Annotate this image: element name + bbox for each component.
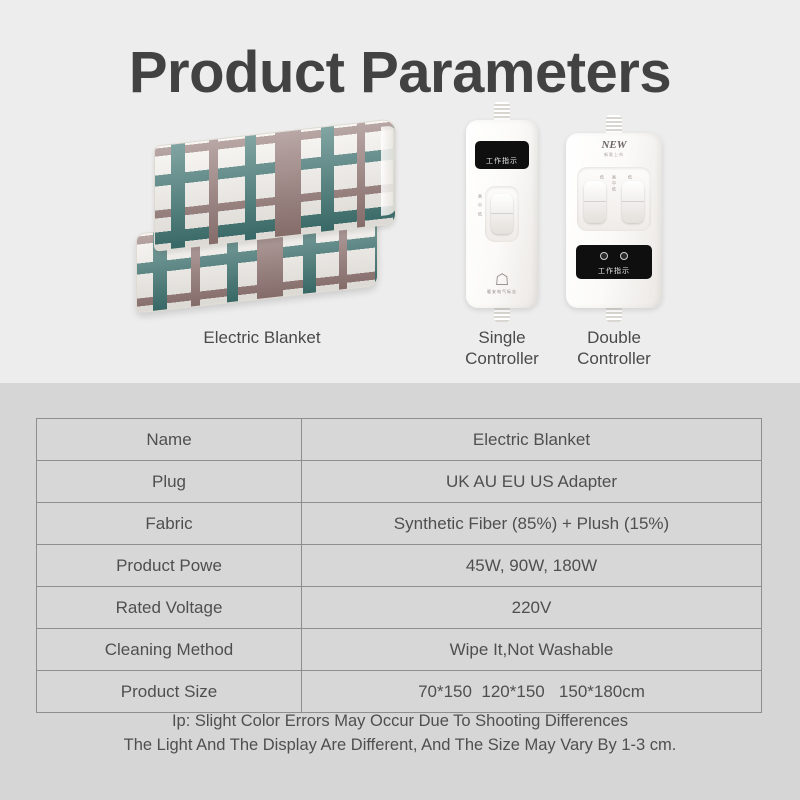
controller-body: NEW 新款上市 低 高中低 低: [566, 133, 662, 308]
disclaimer-line-1: Ip: Slight Color Errors May Occur Due To…: [0, 710, 800, 734]
brand-label: NEW: [566, 139, 662, 151]
spec-value: Synthetic Fiber (85%) + Plush (15%): [302, 503, 762, 545]
controller-body: 工作指示 高 中 低 ☖ 暖安电气标志: [466, 120, 538, 308]
spec-value: Electric Blanket: [302, 419, 762, 461]
spec-key: Plug: [37, 461, 302, 503]
cable-strain-relief-icon: [494, 306, 510, 322]
table-row: PlugUK AU EU US Adapter: [37, 461, 762, 503]
disclaimer-line-2: The Light And The Display Are Different,…: [0, 734, 800, 758]
spec-key: Cleaning Method: [37, 629, 302, 671]
table-row: Rated Voltage220V: [37, 587, 762, 629]
indicator-dot: [600, 252, 608, 260]
spec-key: Name: [37, 419, 302, 461]
spec-value: 70*150 120*150 150*180cm: [302, 671, 762, 713]
switch-scale-label-middle: 高中低: [611, 175, 617, 193]
product-parameters-infographic: Product Parameters 工作指示 高 中 低: [0, 0, 800, 800]
caption-line-2: Controller: [450, 349, 554, 370]
switch-recess: [485, 186, 519, 242]
spec-value: 45W, 90W, 180W: [302, 545, 762, 587]
caption-line-2: Controller: [558, 349, 670, 370]
caption-line-1: Single: [450, 328, 554, 349]
table-row: Product Powe45W, 90W, 180W: [37, 545, 762, 587]
switch-scale-labels: 高 中 低: [477, 194, 483, 218]
electric-blanket-image: [128, 132, 396, 307]
switch-recess: 低 高中低 低: [577, 167, 651, 231]
caption-line-1: Double: [558, 328, 670, 349]
hero-section: Product Parameters 工作指示 高 中 低: [0, 0, 800, 383]
display-panel-label: 工作指示: [598, 266, 630, 276]
spec-key: Rated Voltage: [37, 587, 302, 629]
spec-value: Wipe It,Not Washable: [302, 629, 762, 671]
spec-key: Product Powe: [37, 545, 302, 587]
indicator-lights: [576, 252, 652, 260]
spec-value: UK AU EU US Adapter: [302, 461, 762, 503]
fold-edge-highlight: [381, 125, 396, 216]
specifications-table: NameElectric BlanketPlugUK AU EU US Adap…: [36, 418, 762, 713]
controller-display-panel: 工作指示: [576, 245, 652, 279]
caption-double-controller: Double Controller: [558, 328, 670, 369]
temperature-slider[interactable]: [491, 194, 513, 234]
logo-caption: 暖安电气标志: [466, 290, 538, 294]
table-row: FabricSynthetic Fiber (85%) + Plush (15%…: [37, 503, 762, 545]
single-controller-image: 工作指示 高 中 低 ☖ 暖安电气标志: [466, 120, 538, 308]
table-row: NameElectric Blanket: [37, 419, 762, 461]
temperature-slider-right[interactable]: [622, 181, 644, 223]
table-row: Cleaning MethodWipe It,Not Washable: [37, 629, 762, 671]
controller-display-panel: 工作指示: [475, 141, 529, 169]
indicator-dot: [620, 252, 628, 260]
house-logo-icon: ☖ 暖安电气标志: [466, 273, 538, 294]
specifications-section: NameElectric BlanketPlugUK AU EU US Adap…: [0, 383, 800, 800]
double-controller-image: NEW 新款上市 低 高中低 低: [566, 133, 662, 308]
temperature-slider-left[interactable]: [584, 181, 606, 223]
cable-strain-relief-icon: [606, 306, 622, 322]
spec-key: Product Size: [37, 671, 302, 713]
spec-value: 220V: [302, 587, 762, 629]
specifications-table-body: NameElectric BlanketPlugUK AU EU US Adap…: [37, 419, 762, 713]
brand-sublabel: 新款上市: [566, 152, 662, 158]
table-row: Product Size70*150 120*150 150*180cm: [37, 671, 762, 713]
page-title: Product Parameters: [0, 44, 800, 102]
caption-single-controller: Single Controller: [450, 328, 554, 369]
caption-electric-blanket: Electric Blanket: [130, 328, 394, 349]
spec-key: Fabric: [37, 503, 302, 545]
disclaimer-note: Ip: Slight Color Errors May Occur Due To…: [0, 710, 800, 758]
